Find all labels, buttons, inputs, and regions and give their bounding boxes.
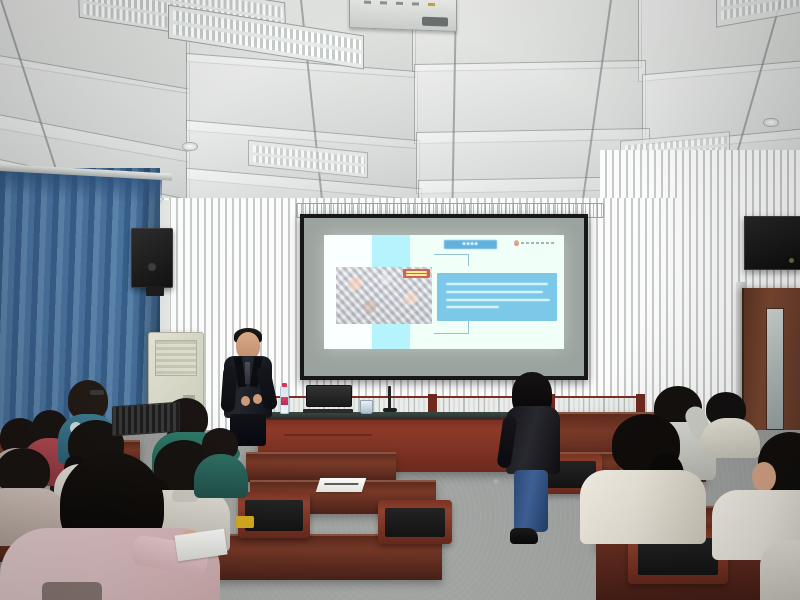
smoke-detector-right xyxy=(763,118,779,127)
yellow-item-on-desk xyxy=(236,516,254,528)
slide-logo-mark xyxy=(514,240,519,246)
slide-connector-top xyxy=(434,254,469,266)
slide-photo xyxy=(336,267,432,324)
chair-i xyxy=(378,500,452,544)
projected-slide: ■■■■ xyxy=(324,235,565,349)
attendee-right-d xyxy=(760,540,800,600)
paper-row2-a xyxy=(316,478,367,492)
slide-text-block xyxy=(437,273,557,321)
slide-photo-banner xyxy=(403,269,430,278)
standing-attendee xyxy=(500,372,564,554)
podium-cup xyxy=(360,400,373,414)
podium-microphone-base xyxy=(383,408,397,412)
podium-cable xyxy=(284,434,372,436)
projection-screen: ■■■■ xyxy=(300,214,588,380)
speaker-left-mount xyxy=(146,286,164,296)
water-bottle xyxy=(280,386,289,414)
slide-connector-bottom xyxy=(434,320,469,335)
podium-laptop xyxy=(306,385,350,413)
chair-b xyxy=(238,492,310,538)
slide-logo xyxy=(514,240,555,246)
smoke-detector-left xyxy=(182,142,198,151)
attendee-far-right xyxy=(700,392,760,448)
standing-attendee-shoe xyxy=(510,528,538,544)
speaker-right xyxy=(744,216,800,270)
ceiling-projector xyxy=(349,0,457,32)
audio-mixer xyxy=(112,402,180,437)
presenter-hand-left xyxy=(241,396,250,406)
attendee-front-left xyxy=(16,452,206,600)
conference-room-photo: ■■■■ xyxy=(0,0,800,600)
slide-logo-text xyxy=(521,242,555,244)
presenter-hand-right xyxy=(253,394,262,404)
slide-title-chip: ■■■■ xyxy=(444,240,497,249)
speaker-left xyxy=(131,228,173,288)
attendee-right-a xyxy=(586,414,698,530)
door-window xyxy=(766,308,784,430)
presenter-tie xyxy=(245,362,250,384)
standing-attendee-jeans xyxy=(514,470,548,532)
